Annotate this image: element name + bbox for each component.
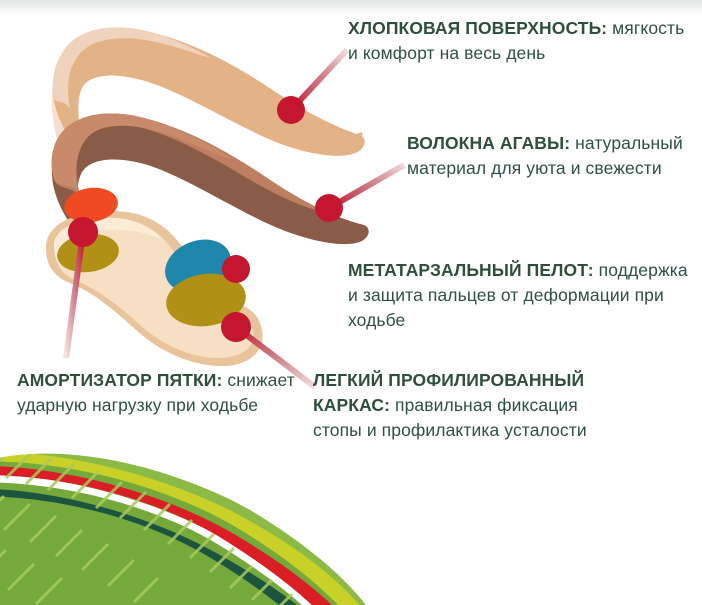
marker-dot-icon-cotton[interactable] bbox=[277, 96, 305, 124]
marker-dot-icon-metatarsal[interactable] bbox=[222, 255, 250, 283]
callout-heading-cotton: ХЛОПКОВАЯ ПОВЕРХНОСТЬ: bbox=[348, 18, 607, 38]
callout-agave-fibers: ВОЛОКНА АГАВЫ: натуральный материал для … bbox=[407, 131, 692, 181]
callout-heading-metatarsal: МЕТАТАРЗАЛЬНЫЙ ПЕЛОТ: bbox=[348, 260, 594, 280]
marker-dot-icon-heel[interactable] bbox=[68, 217, 98, 247]
decorative-green-ribbon bbox=[0, 444, 380, 605]
marker-dot-icon-frame[interactable] bbox=[221, 312, 251, 342]
callout-heading-heel: АМОРТИЗАТОР ПЯТКИ: bbox=[17, 370, 222, 390]
callout-cotton-surface: ХЛОПКОВАЯ ПОВЕРХНОСТЬ: мягкость и комфор… bbox=[348, 16, 688, 66]
callout-heel-shock-absorber: АМОРТИЗАТОР ПЯТКИ: снижает ударную нагру… bbox=[17, 368, 307, 418]
callout-metatarsal-pad: МЕТАТАРЗАЛЬНЫЙ ПЕЛОТ: поддержка и защита… bbox=[348, 258, 693, 333]
marker-dot-icon-agave[interactable] bbox=[315, 194, 343, 222]
callout-heading-agave: ВОЛОКНА АГАВЫ: bbox=[407, 133, 570, 153]
infographic-canvas: ХЛОПКОВАЯ ПОВЕРХНОСТЬ: мягкость и комфор… bbox=[0, 0, 702, 605]
callout-light-profiled-frame: ЛЕГКИЙ ПРОФИЛИРОВАННЫЙ КАРКАС: правильна… bbox=[313, 368, 613, 443]
